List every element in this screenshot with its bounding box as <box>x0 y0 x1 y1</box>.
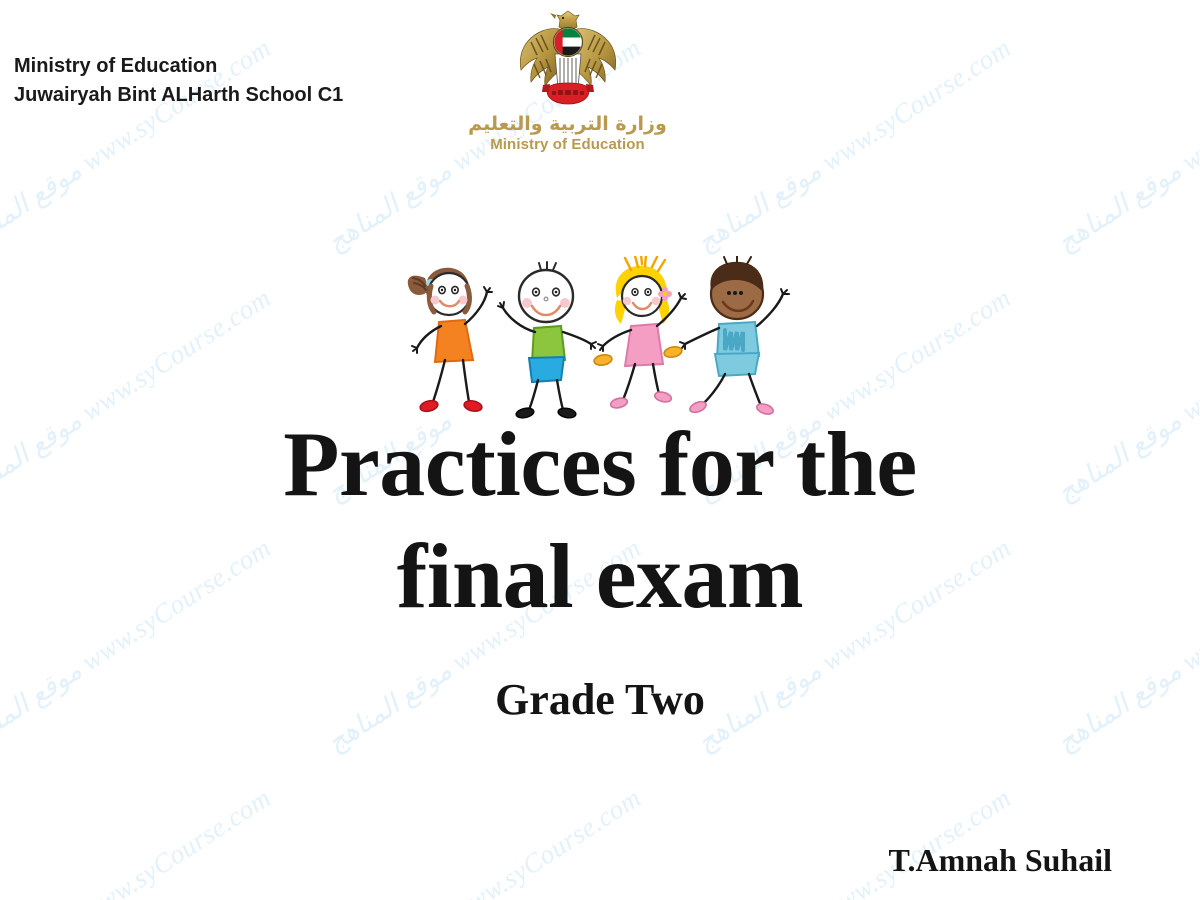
watermark-text: موقع المناهج www.syCourse.com <box>1052 32 1200 258</box>
uae-falcon-emblem-icon <box>510 8 626 112</box>
watermark-text: موقع المناهج www.syCourse.com <box>322 782 647 900</box>
main-title: Practices for the final exam <box>0 408 1200 632</box>
title-block: Practices for the final exam <box>0 408 1200 632</box>
watermark-text: موقع المناهج www.syCourse.com <box>0 782 277 900</box>
logo-english-text: Ministry of Education <box>460 136 675 155</box>
ministry-of-education-logo: وزارة التربية والتعليم Ministry of Educa… <box>460 8 675 155</box>
main-title-line-2: final exam <box>0 520 1200 632</box>
logo-arabic-text: وزارة التربية والتعليم <box>460 113 675 136</box>
children-illustration <box>395 256 827 420</box>
watermark-text: موقع المناهج www.syCourse.com <box>692 32 1017 258</box>
subtitle-grade: Grade Two <box>0 674 1200 725</box>
header-line-ministry: Ministry of Education <box>14 52 343 81</box>
main-title-line-1: Practices for the <box>0 408 1200 520</box>
author-credit: T.Amnah Suhail <box>889 842 1113 879</box>
four-children-holding-hands-icon <box>395 256 827 420</box>
header-line-school: Juwairyah Bint ALHarth School C1 <box>14 81 343 110</box>
slide-canvas: موقع المناهج www.syCourse.comموقع المناه… <box>0 0 1200 900</box>
school-header: Ministry of Education Juwairyah Bint ALH… <box>14 52 343 110</box>
